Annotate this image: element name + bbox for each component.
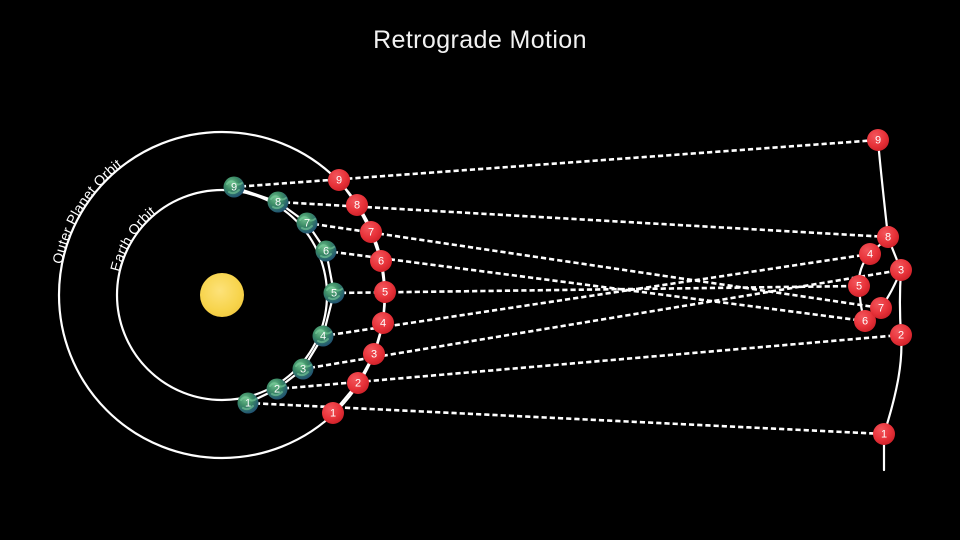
planet-marker-7[interactable]: 7 bbox=[360, 221, 382, 243]
retrograde-motion-diagram: Retrograde Motion 12345 bbox=[0, 0, 960, 540]
planet-marker-2[interactable]: 2 bbox=[890, 324, 912, 346]
earth-orbit-label: Earth Orbit bbox=[107, 203, 159, 273]
planet-marker-8[interactable]: 8 bbox=[346, 194, 368, 216]
planet-dot-icon bbox=[370, 250, 392, 272]
planet-dot-icon bbox=[890, 324, 912, 346]
planet-dot-icon bbox=[870, 297, 892, 319]
earth-globe-icon bbox=[297, 213, 318, 234]
planet-marker-7[interactable]: 7 bbox=[870, 297, 892, 319]
earth-track bbox=[234, 187, 334, 403]
planet-dot-icon bbox=[848, 275, 870, 297]
planet-dot-icon bbox=[374, 281, 396, 303]
planet-marker-3[interactable]: 3 bbox=[890, 259, 912, 281]
earth-marker-8[interactable]: 8 bbox=[268, 192, 289, 213]
planet-dot-icon bbox=[328, 169, 350, 191]
planet-dot-icon bbox=[322, 402, 344, 424]
earth-globe-icon bbox=[267, 379, 288, 400]
earth-marker-1[interactable]: 1 bbox=[238, 393, 259, 414]
planet-marker-6[interactable]: 6 bbox=[370, 250, 392, 272]
planet-marker-8[interactable]: 8 bbox=[877, 226, 899, 248]
planet-dot-icon bbox=[859, 243, 881, 265]
planet-marker-9[interactable]: 9 bbox=[328, 169, 350, 191]
planet-marker-5[interactable]: 5 bbox=[848, 275, 870, 297]
earth-globe-icon bbox=[224, 177, 245, 198]
earth-globe-icon bbox=[238, 393, 259, 414]
earth-marker-5[interactable]: 5 bbox=[324, 283, 345, 304]
planet-dot-icon bbox=[346, 194, 368, 216]
planet-marker-4[interactable]: 4 bbox=[372, 312, 394, 334]
earth-marker-7[interactable]: 7 bbox=[297, 213, 318, 234]
earth-marker-2[interactable]: 2 bbox=[267, 379, 288, 400]
planet-dot-icon bbox=[363, 343, 385, 365]
planet-marker-2[interactable]: 2 bbox=[347, 372, 369, 394]
planet-dot-icon bbox=[867, 129, 889, 151]
earth-globe-icon bbox=[324, 283, 345, 304]
outer-orbit-label: Outer Planet Orbit bbox=[49, 156, 124, 266]
planet-marker-1[interactable]: 1 bbox=[322, 402, 344, 424]
earth-marker-9[interactable]: 9 bbox=[224, 177, 245, 198]
diagram-canvas: 123456789123456789123456789 Outer Planet… bbox=[0, 0, 960, 540]
planet-marker-9[interactable]: 9 bbox=[867, 129, 889, 151]
earth-globe-icon bbox=[313, 326, 334, 347]
planet-marker-1[interactable]: 1 bbox=[873, 423, 895, 445]
earth-marker-4[interactable]: 4 bbox=[313, 326, 334, 347]
planet-marker-5[interactable]: 5 bbox=[374, 281, 396, 303]
planet-dot-icon bbox=[890, 259, 912, 281]
earth-marker-3[interactable]: 3 bbox=[293, 359, 314, 380]
earth-globe-icon bbox=[268, 192, 289, 213]
planet-marker-3[interactable]: 3 bbox=[363, 343, 385, 365]
earth-globe-icon bbox=[293, 359, 314, 380]
sun bbox=[200, 273, 244, 317]
sight-line-1 bbox=[248, 403, 884, 434]
earth-marker-6[interactable]: 6 bbox=[316, 241, 337, 262]
sun-group bbox=[200, 273, 244, 317]
planet-dot-icon bbox=[877, 226, 899, 248]
planet-dot-icon bbox=[347, 372, 369, 394]
planet-dot-icon bbox=[372, 312, 394, 334]
planet-marker-4[interactable]: 4 bbox=[859, 243, 881, 265]
planet-dot-icon bbox=[360, 221, 382, 243]
planet-dot-icon bbox=[873, 423, 895, 445]
earth-globe-icon bbox=[316, 241, 337, 262]
